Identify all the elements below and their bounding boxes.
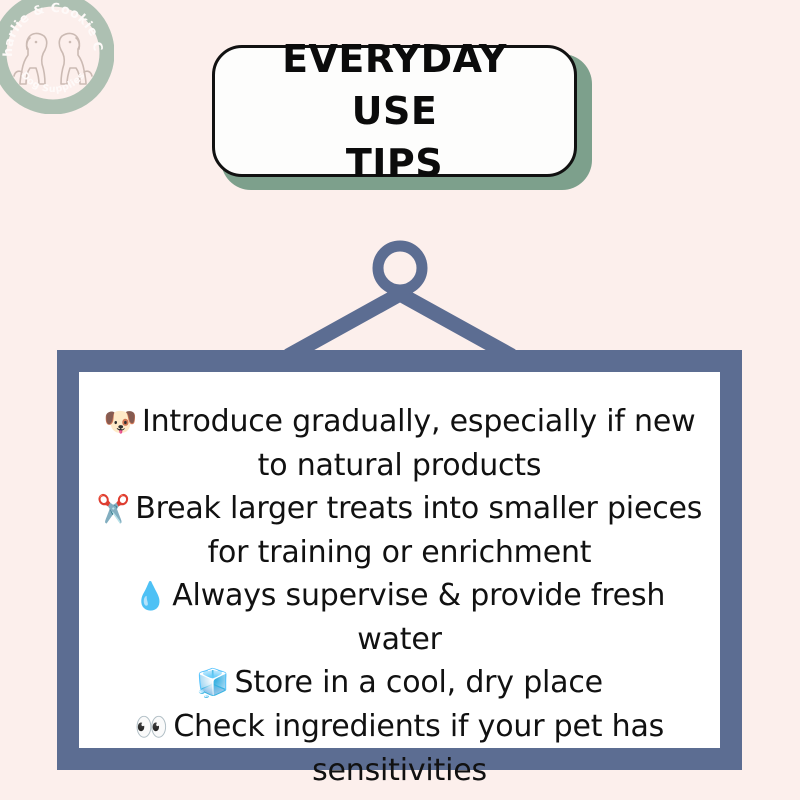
tip-text: Always supervise & provide fresh water <box>172 578 665 657</box>
tip-text: Check ingredients if your pet has sensit… <box>173 709 664 788</box>
tip-text: Introduce gradually, especially if new t… <box>142 404 696 483</box>
dog-face-icon: 🐶 <box>104 407 137 438</box>
tips-list: 🐶Introduce gradually, especially if new … <box>93 400 706 792</box>
sign-hanger <box>270 232 530 362</box>
eyes-icon: 👀 <box>135 712 168 743</box>
sign-face: 🐶Introduce gradually, especially if new … <box>79 372 720 748</box>
hanger-cords <box>288 294 512 356</box>
poster-canvas: Charlie & Cookie Co. Dog Supplies EVERYD… <box>0 0 800 800</box>
svg-text:Dog Supplies: Dog Supplies <box>18 70 87 95</box>
scissors-icon: ✂️ <box>97 494 130 525</box>
hanger-ring-icon <box>378 246 422 290</box>
list-item: 🐶Introduce gradually, especially if new … <box>93 400 706 487</box>
tip-text: Break larger treats into smaller pieces … <box>135 491 702 570</box>
list-item: 🧊Store in a cool, dry place <box>93 661 706 705</box>
sign-board: 🐶Introduce gradually, especially if new … <box>57 350 742 770</box>
logo-bottom-arc-text: Dog Supplies <box>18 70 87 95</box>
page-title: EVERYDAY USE TIPS <box>215 33 574 189</box>
droplet-icon: 💧 <box>134 581 167 612</box>
list-item: ✂️Break larger treats into smaller piece… <box>93 487 706 574</box>
brand-logo-watermark: Charlie & Cookie Co. Dog Supplies <box>0 0 114 114</box>
ice-cube-icon: 🧊 <box>196 668 229 699</box>
title-card: EVERYDAY USE TIPS <box>212 45 577 177</box>
list-item: 👀Check ingredients if your pet has sensi… <box>93 705 706 792</box>
tip-text: Store in a cool, dry place <box>234 665 602 700</box>
list-item: 💧Always supervise & provide fresh water <box>93 574 706 661</box>
